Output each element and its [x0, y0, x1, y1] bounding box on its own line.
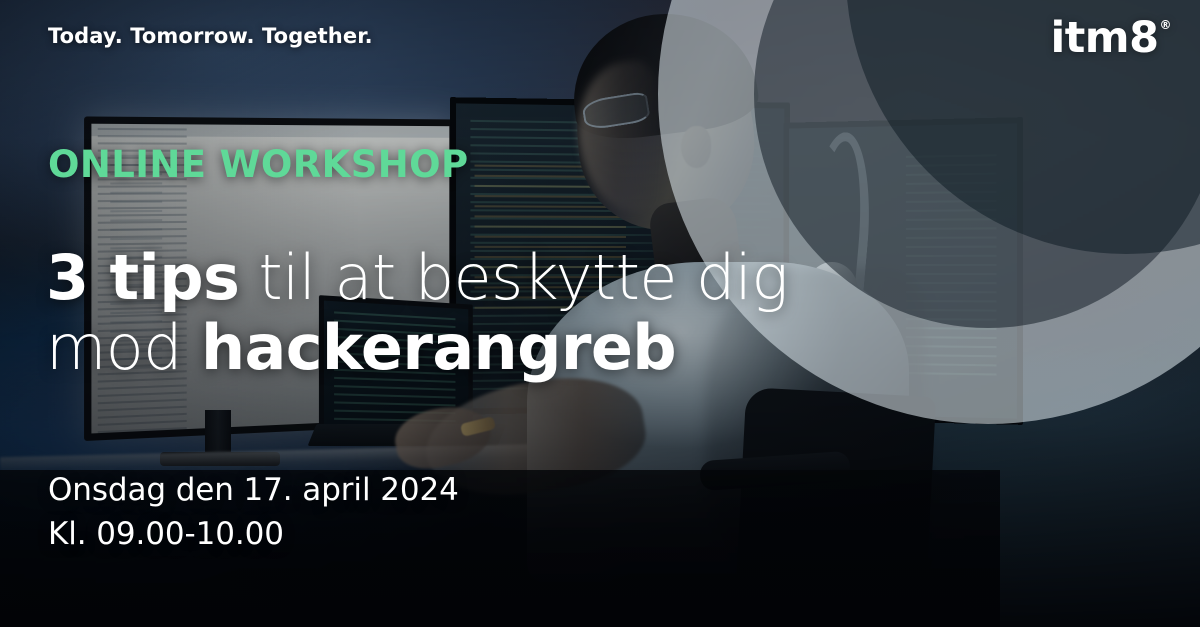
headline-emphasis-2: hackerangreb	[201, 311, 676, 384]
event-type-label: ONLINE WORKSHOP	[48, 143, 469, 186]
headline-light-2: mod	[46, 311, 201, 384]
logo-wordmark: itm8	[1050, 13, 1158, 63]
headline-line-2: mod hackerangreb	[46, 313, 886, 383]
event-details: Onsdag den 17. april 2024 Kl. 09.00-10.0…	[48, 468, 459, 556]
brand-tagline: Today. Tomorrow. Together.	[48, 24, 373, 48]
headline-rest-1: til at beskytte dig	[239, 241, 788, 314]
event-date: Onsdag den 17. april 2024	[48, 468, 459, 512]
event-time: Kl. 09.00-10.00	[48, 512, 459, 556]
registered-trademark-icon: ®	[1160, 18, 1172, 32]
headline-emphasis-1: 3 tips	[46, 241, 239, 314]
itm8-logo: itm8®	[1050, 17, 1170, 60]
page-title: 3 tips til at beskytte dig mod hackerang…	[46, 243, 886, 383]
headline-line-1: 3 tips til at beskytte dig	[46, 243, 886, 313]
promo-banner: Today. Tomorrow. Together. itm8® ONLINE …	[0, 0, 1200, 627]
